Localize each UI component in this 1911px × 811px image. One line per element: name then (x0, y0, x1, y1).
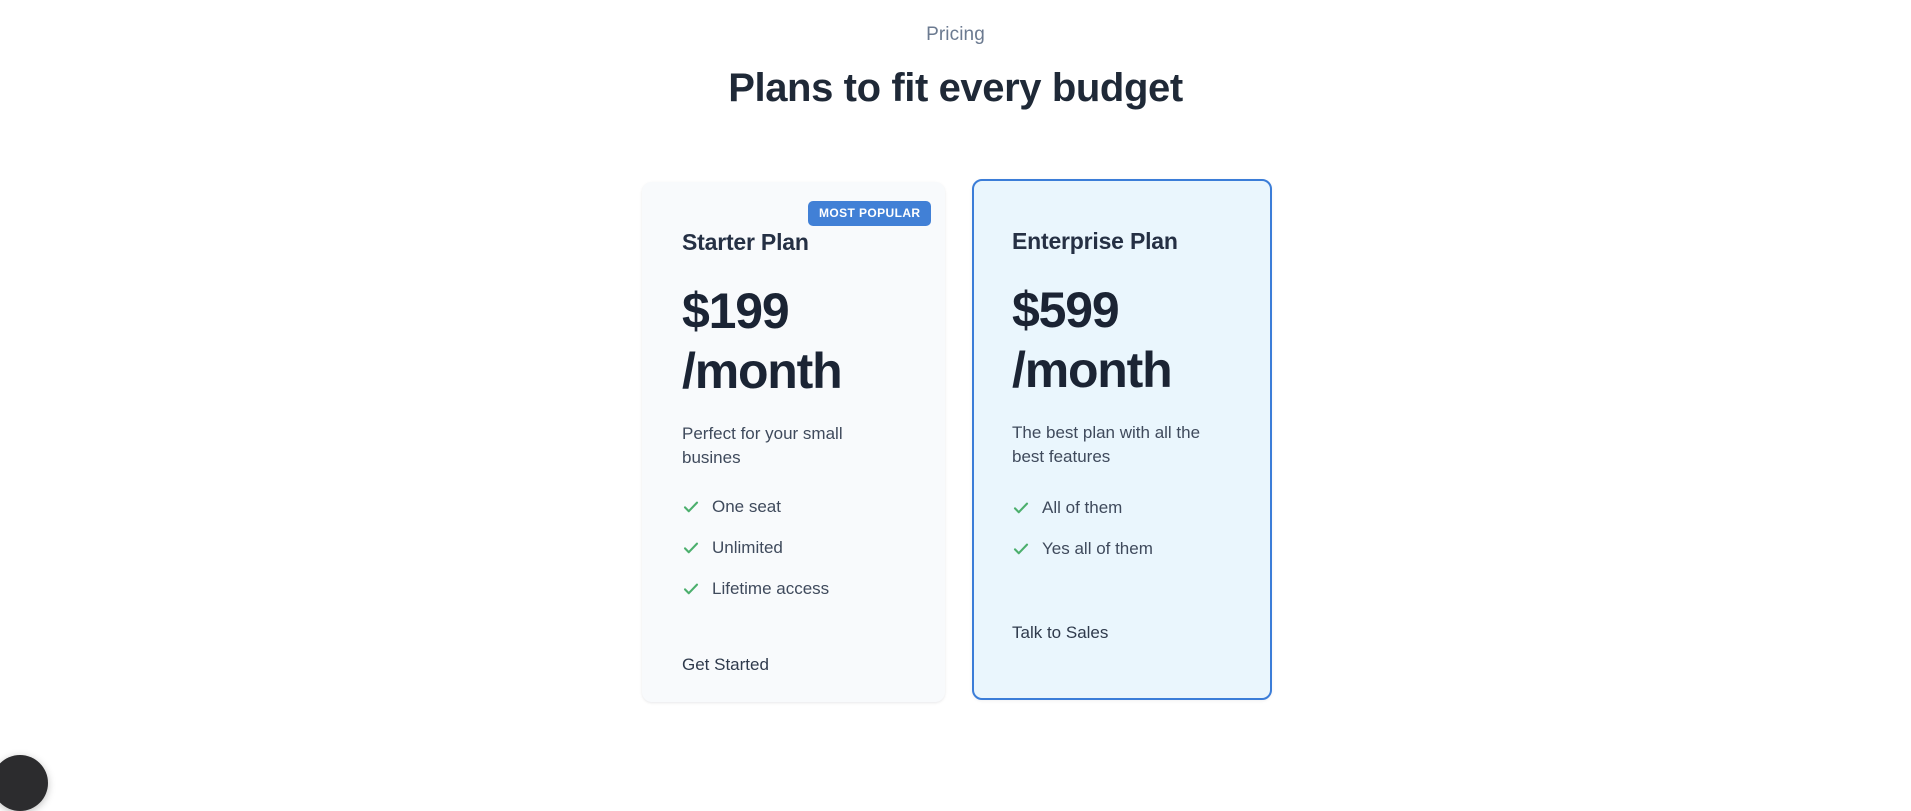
talk-to-sales-button[interactable]: Talk to Sales (1012, 622, 1108, 644)
page-title: Plans to fit every budget (0, 64, 1911, 112)
list-item: All of them (1012, 497, 1232, 519)
plan-period-starter: /month (682, 340, 905, 402)
plan-name-starter: Starter Plan (682, 228, 905, 256)
page-header: Pricing Plans to fit every budget (0, 0, 1911, 112)
plan-tagline-starter: Perfect for your small busines (682, 422, 905, 470)
feature-label: Unlimited (712, 537, 783, 559)
pricing-page: Pricing Plans to fit every budget MOST P… (0, 0, 1911, 785)
feature-list-starter: One seat Unlimited (682, 496, 905, 600)
feature-label: One seat (712, 496, 781, 518)
feature-label: Yes all of them (1042, 538, 1153, 560)
plan-period-enterprise: /month (1012, 339, 1232, 401)
check-icon (1012, 499, 1030, 517)
feature-label: All of them (1042, 497, 1122, 519)
check-icon (1012, 540, 1030, 558)
list-item: Yes all of them (1012, 538, 1232, 560)
check-icon (682, 539, 700, 557)
most-popular-badge: MOST POPULAR (808, 201, 931, 226)
plan-tagline-enterprise: The best plan with all the best features (1012, 421, 1232, 469)
pricing-cards: MOST POPULAR Starter Plan $199 /month Pe… (642, 179, 1274, 709)
plan-price-enterprise: $599 (1012, 281, 1232, 339)
check-icon (682, 580, 700, 598)
pricing-card-starter[interactable]: MOST POPULAR Starter Plan $199 /month Pe… (642, 182, 945, 702)
plan-price-starter: $199 (682, 282, 905, 340)
eyebrow-label: Pricing (0, 22, 1911, 48)
corner-circle-widget[interactable] (0, 755, 48, 811)
list-item: Lifetime access (682, 578, 905, 600)
pricing-card-enterprise[interactable]: Enterprise Plan $599 /month The best pla… (972, 179, 1272, 700)
check-icon (682, 498, 700, 516)
plan-name-enterprise: Enterprise Plan (1012, 227, 1232, 255)
list-item: Unlimited (682, 537, 905, 559)
feature-label: Lifetime access (712, 578, 829, 600)
list-item: One seat (682, 496, 905, 518)
feature-list-enterprise: All of them Yes all of them (1012, 497, 1232, 560)
get-started-button[interactable]: Get Started (682, 654, 769, 676)
